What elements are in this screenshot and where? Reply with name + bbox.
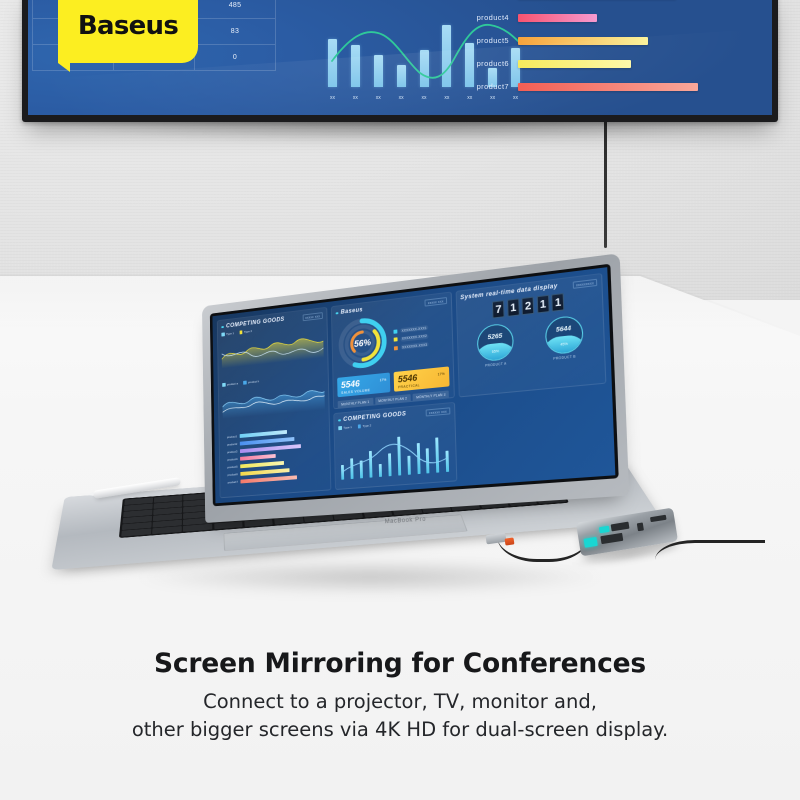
product-bar-fill [518, 83, 698, 91]
realtime-meta-tag: xxxxxxxxx [573, 279, 598, 289]
panel-meta-tag: xxxxx xxx [425, 297, 447, 307]
chart-bar [374, 55, 383, 87]
legend-item: product b [243, 379, 259, 384]
product-label: product6 [458, 59, 518, 68]
liquid-gauges: 526565%PRODUCT A564445%PRODUCT B [461, 313, 600, 370]
product-bar-fill [518, 60, 631, 68]
legend-item: Type 2 [239, 329, 252, 334]
wave-chart-upper [221, 327, 324, 380]
product-label: product1 [223, 434, 240, 439]
chart-bar [488, 68, 497, 87]
axis-tick: xx [397, 95, 406, 101]
product-label: product7 [224, 480, 241, 485]
table-cell: 0 [195, 45, 276, 71]
chart-bar [511, 48, 520, 87]
axis-tick: xx [465, 95, 474, 101]
donut-legend: XXXXXXX-XXX1XXXXXXX-XXX2XXXXXXX-XXX3 [393, 325, 429, 351]
gauge-name: PRODUCT B [546, 354, 584, 362]
counter-digit: 1 [536, 295, 549, 314]
product-bar-track [518, 60, 758, 68]
product-bar-fill [518, 37, 648, 45]
legend-item: XXXXXXX-XXX3 [394, 342, 429, 351]
legend-item: product a [222, 382, 238, 387]
subtitle-line-2: other bigger screens via 4K HD for dual-… [24, 716, 776, 744]
legend-label: product a [227, 382, 238, 387]
table-cell: 83 [195, 19, 276, 45]
legend-item: XXXXXXX-XXX1 [393, 325, 428, 334]
table-header-cell: MONTHLY PLAN 2 [375, 394, 411, 405]
mini-column-chart [338, 424, 451, 484]
product-bar-fill [240, 475, 296, 483]
legend-item: Type 1 [338, 425, 352, 430]
keyboard-key[interactable] [152, 526, 181, 534]
gauge-name: PRODUCT A [478, 361, 515, 369]
counter-digit: 1 [551, 293, 564, 312]
product-bar-track [518, 37, 758, 45]
liquid-gauge: 564445%PRODUCT B [544, 315, 583, 362]
bullet-icon [336, 312, 338, 315]
product-label: product6 [224, 472, 241, 477]
dashboard-brand-title: Baseus [341, 307, 363, 315]
legend-item: XXXXXXX-XXX2 [394, 333, 429, 342]
kpi-delta: 17% [438, 372, 445, 377]
legend-item: Type 1 [221, 331, 234, 336]
legend-swatch [239, 331, 242, 335]
legend-label: product b [248, 379, 259, 384]
product-bar-row: product7 [458, 75, 758, 98]
tv-hdmi-cable [604, 120, 607, 248]
legend-swatch [394, 337, 398, 341]
gauge-ball: 526565% [476, 322, 514, 362]
laptop-shadow [130, 560, 610, 594]
product-label: product2 [223, 442, 240, 447]
legend-swatch [393, 329, 397, 333]
keyboard-key[interactable] [121, 529, 151, 537]
product-bar-fill [518, 14, 597, 22]
mini-trend-line [338, 424, 451, 483]
kpi-card: 554617%PRACTICAL [394, 366, 449, 391]
chart-bar [465, 43, 474, 87]
competing-goods-bottom-meta: xxxxxx xxx [426, 407, 450, 416]
laptop-lid: Baseus xxxxx xxx [202, 253, 629, 523]
chart-bar [420, 50, 429, 87]
baseus-logo-text: Baseus [78, 11, 178, 41]
legend-swatch [222, 383, 225, 387]
product-bar-track [518, 83, 758, 91]
donut-percent-label: 56% [336, 313, 390, 373]
subtitle: Connect to a projector, TV, monitor and,… [24, 688, 776, 743]
table-header-cell: MONTHLY PLAN 1 [338, 398, 373, 409]
legend-swatch [394, 346, 398, 350]
product-label: product4 [458, 13, 518, 22]
competing-right-product-bars: product1product2product3product4product5… [223, 425, 326, 487]
chart-bar [397, 65, 406, 87]
donut-chart-wrap: 56% XXXXXXX-XXX1XXXXXXX-XXX2XXXXXXX-XXX3 [336, 306, 449, 373]
gauge-value: 5644 [546, 324, 582, 335]
kpi-delta: 17% [380, 378, 387, 383]
axis-tick: xx [328, 95, 337, 101]
page-title: Screen Mirroring for Conferences [24, 648, 776, 679]
legend-label: XXXXXXX-XXX1 [400, 325, 429, 333]
panel-competing-goods-bottom: COMPETING GOODS xxxxxx xxx Type 1Type 2 [333, 402, 457, 490]
panel-overview: Baseus xxxxx xxx [331, 292, 454, 410]
product-bar-track [518, 14, 758, 22]
legend-label: XXXXXXX-XXX2 [400, 333, 429, 341]
product-scene: 3254858378690 Baseus xxxxxxxxxxxxxxxxxx … [0, 0, 800, 800]
hdmi-cable-from-hub [655, 540, 765, 560]
legend-label: Type 2 [244, 329, 252, 334]
kpi-card: 554617%SALES VOLUME [337, 372, 390, 397]
product-label: product3 [223, 449, 240, 454]
bullet-icon [338, 419, 340, 422]
gauge-value: 5265 [478, 332, 513, 343]
usb-c-plug-orange-collar [505, 537, 515, 545]
baseus-logo-tag: Baseus [58, 0, 198, 63]
product-bar-row: product5 [458, 29, 758, 52]
marketing-copy: Screen Mirroring for Conferences Connect… [0, 648, 800, 743]
product-bar-row: product4 [458, 6, 758, 29]
subtitle-line-1: Connect to a projector, TV, monitor and, [24, 688, 776, 716]
product-label: product5 [458, 36, 518, 45]
table-cell: 485 [195, 0, 276, 19]
axis-tick: xx [420, 95, 429, 101]
legend-swatch [243, 381, 246, 385]
legend-label: Type 1 [343, 425, 352, 430]
hub-port-5 [637, 522, 644, 531]
axis-tick: xx [374, 95, 383, 101]
panel-realtime: System real-time data display xxxxxxxxx … [455, 273, 606, 398]
gauge-ball: 564445% [544, 315, 583, 356]
legend-swatch [221, 333, 224, 337]
product-label: product4 [223, 457, 240, 462]
counter-digit: 1 [507, 298, 520, 317]
tv-product-bar-chart: product3product4product5product6product7 [458, 0, 758, 98]
product-label: product5 [224, 464, 241, 469]
axis-tick: xx [511, 95, 520, 101]
legend-label: XXXXXXX-XXX3 [400, 342, 429, 350]
legend-label: Type 2 [363, 423, 372, 428]
counter-digit: 2 [522, 297, 535, 316]
counter-digit: 7 [492, 300, 505, 318]
product-label: product7 [458, 82, 518, 91]
legend-label: Type 1 [226, 331, 234, 336]
dashboard-screen: Baseus xxxxx xxx [212, 267, 615, 503]
tv-screen: 3254858378690 Baseus xxxxxxxxxxxxxxxxxx … [28, 0, 772, 115]
legend-swatch [338, 426, 341, 430]
donut-chart: 56% [336, 313, 390, 373]
liquid-gauge: 526565%PRODUCT A [476, 322, 514, 368]
legend-item: Type 2 [357, 423, 371, 428]
axis-tick: xx [442, 95, 451, 101]
screen-bezel: Baseus xxxxx xxx [210, 264, 619, 507]
axis-tick: xx [488, 95, 497, 101]
legend-swatch [357, 425, 360, 429]
panel-competing-goods-right: COMPETING GOODS xxxxx xxx Type 1Type 2 [217, 307, 332, 499]
axis-tick: xx [351, 95, 360, 101]
competing-goods-right-meta: xxxxx xxx [302, 312, 322, 321]
bullet-icon [221, 326, 223, 329]
table-header-cell: MONTHLY PLAN 3 [413, 390, 450, 401]
product-bar-row: product6 [458, 52, 758, 75]
wave-chart-lower [222, 379, 325, 431]
wall-mounted-tv: 3254858378690 Baseus xxxxxxxxxxxxxxxxxx … [22, 0, 778, 122]
